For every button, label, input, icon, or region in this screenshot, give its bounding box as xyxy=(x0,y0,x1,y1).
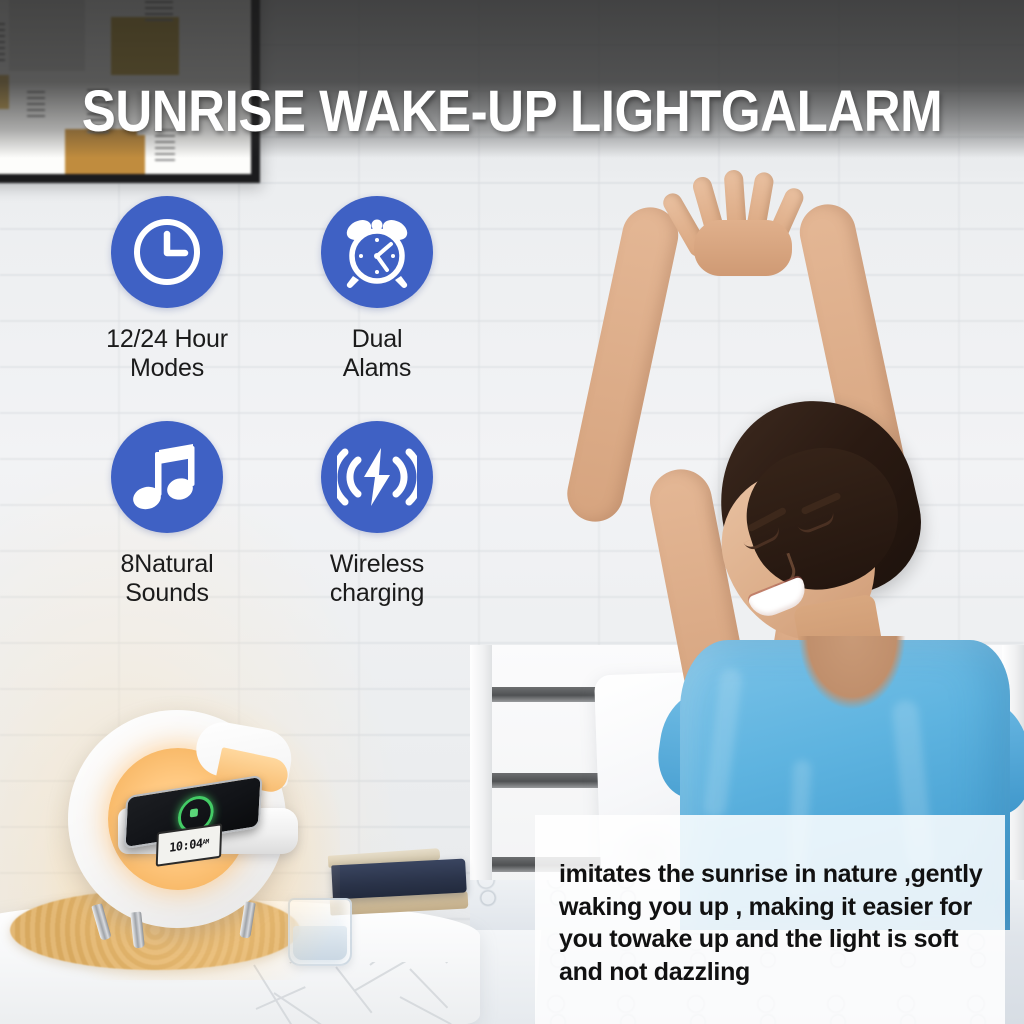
caption-panel: imitates the sunrise in nature ,gently w… xyxy=(535,815,1005,1024)
caption-text: imitates the sunrise in nature ,gently w… xyxy=(559,858,983,988)
water-glass xyxy=(288,898,352,966)
feature-list: 12/24 Hour Modes xyxy=(62,196,482,608)
page-title: SUNRISE WAKE-UP LIGHTGALARM xyxy=(61,83,962,141)
feature-label: Wireless charging xyxy=(330,550,424,608)
feature-label: 8Natural Sounds xyxy=(121,550,214,608)
book-navy xyxy=(331,859,467,900)
clasped-hands xyxy=(660,168,820,264)
feature-label: Dual Alams xyxy=(343,325,411,383)
led-clock-meridiem: AM xyxy=(202,839,208,846)
led-clock-time: 10:04 xyxy=(169,837,203,854)
feature-label: 12/24 Hour Modes xyxy=(106,325,228,383)
feature-item-dual-alarms[interactable]: Dual Alams xyxy=(272,196,482,383)
product-marketing-image: 10:04AM SUNRISE WAKE-UP LIGHTGALARM 12/2… xyxy=(0,0,1024,1024)
wireless-charging-icon xyxy=(321,421,433,533)
feature-item-wireless-charging[interactable]: Wireless charging xyxy=(272,421,482,608)
clock-icon xyxy=(111,196,223,308)
feature-item-12-24-hour-modes[interactable]: 12/24 Hour Modes xyxy=(62,196,272,383)
alarm-clock-icon xyxy=(321,196,433,308)
nightstand-lattice-base xyxy=(250,962,482,1024)
feature-item-8-natural-sounds[interactable]: 8Natural Sounds xyxy=(62,421,272,608)
music-note-icon xyxy=(111,421,223,533)
